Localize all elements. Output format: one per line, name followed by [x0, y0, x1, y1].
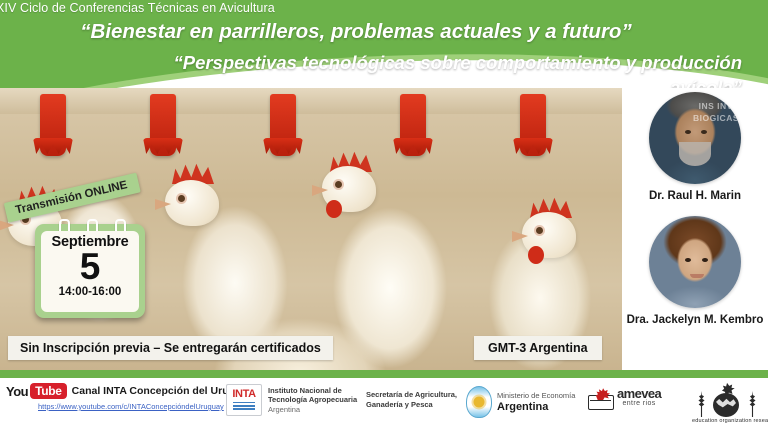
avatar-eye [685, 130, 691, 134]
ministerio-text: Ministerio de Economía Argentina [497, 391, 575, 414]
inta-line-3: Argentina [268, 405, 357, 415]
footer-logos: You Tube Canal INTA Concepción del Urugu… [0, 378, 768, 432]
inta-logo-text: Instituto Nacional de Tecnología Agropec… [268, 386, 357, 415]
feeder-icon [270, 94, 296, 156]
chicken-wattle [326, 200, 342, 218]
conference-series-label: XIV Ciclo de Conferencias Técnicas en Av… [0, 1, 456, 15]
registration-note: Sin Inscripción previa – Se entregarán c… [8, 336, 333, 360]
chicken-head [322, 166, 376, 212]
chicken-head [165, 180, 219, 226]
chicken-eye [178, 195, 185, 202]
speaker-card: INS INVE BIOGICAS Dr. Raul H. Marin [622, 92, 768, 203]
amevea-logo-block: amevea entre rios [588, 388, 661, 410]
speaker-avatar [649, 216, 741, 308]
youtube-channel-link[interactable]: https://www.youtube.com/c/INTAConcepción… [38, 402, 224, 411]
calendar-face: Septiembre 5 14:00-16:00 [41, 231, 139, 312]
inta-wordmark: INTA [232, 389, 255, 400]
photo-watermark: INS INVE BIOGICAS [679, 100, 739, 124]
youtube-tube-text: Tube [30, 383, 67, 399]
feeder-icon [400, 94, 426, 156]
secretaria-line-1: Secretaría de Agricultura, [366, 390, 457, 400]
amevea-subtitle: entre rios [617, 399, 661, 409]
ministerio-line-1: Ministerio de Economía [497, 391, 575, 401]
speaker-name: Dr. Raul H. Marin [622, 189, 768, 203]
feeder-icon [150, 94, 176, 156]
inta-logo-icon: INTA [226, 384, 262, 416]
inta-line-2: Tecnología Agropecuaria [268, 395, 357, 405]
event-date-calendar: Septiembre 5 14:00-16:00 [35, 224, 145, 318]
wpsa-caption: education organization research [692, 418, 762, 424]
calendar-time: 14:00-16:00 [59, 286, 122, 298]
secretaria-line-2: Ganadería y Pesca [366, 400, 457, 410]
amevea-wordmark: amevea entre rios [617, 389, 661, 409]
wheat-icon [698, 391, 705, 417]
timezone-badge: GMT-3 Argentina [474, 336, 602, 360]
speakers-panel: INS INVE BIOGICAS Dr. Raul H. Marin Dra.… [622, 88, 768, 370]
globe-icon [713, 393, 739, 417]
feeder-icon [520, 94, 546, 156]
amevea-name: amevea [617, 389, 661, 399]
youtube-logo: You Tube [6, 383, 67, 399]
feeder-icon [40, 94, 66, 156]
chicken-eye [335, 181, 342, 188]
chicken-head [522, 212, 576, 258]
avatar-eye [702, 258, 708, 262]
page-title: “Bienestar en parrilleros, problemas act… [0, 19, 712, 45]
avatar-beard [679, 142, 711, 166]
speaker-card: Dra. Jackelyn M. Kembro [622, 216, 768, 327]
conference-poster: XIV Ciclo de Conferencias Técnicas en Av… [0, 0, 768, 432]
wpsa-logo-block: education organization research [692, 383, 762, 424]
secretaria-text: Secretaría de Agricultura, Ganadería y P… [366, 390, 457, 409]
argentina-emblem-icon [466, 386, 492, 418]
amevea-rooster-icon [588, 388, 614, 410]
ministerio-block: Ministerio de Economía Argentina [466, 386, 575, 418]
inta-stripes [233, 402, 255, 412]
speaker-name: Dra. Jackelyn M. Kembro [622, 313, 768, 327]
secretaria-block: Secretaría de Agricultura, Ganadería y P… [366, 390, 457, 409]
chicken-wattle [528, 246, 544, 264]
wheat-icon [749, 391, 756, 417]
youtube-channel-block[interactable]: You Tube Canal INTA Concepción del Urugu… [6, 383, 253, 399]
avatar-eye [701, 130, 707, 134]
footer-divider [0, 370, 768, 378]
youtube-you-text: You [6, 384, 28, 399]
speaker-avatar: INS INVE BIOGICAS [649, 92, 741, 184]
avatar-mouth [690, 274, 704, 278]
ministerio-line-2: Argentina [497, 401, 575, 414]
inta-line-1: Instituto Nacional de [268, 386, 357, 396]
sun-of-may-icon [474, 397, 485, 408]
calendar-day: 5 [80, 248, 101, 285]
chicken-eye [536, 227, 543, 234]
wpsa-emblem-icon [696, 383, 758, 417]
inta-logo-block: INTA Instituto Nacional de Tecnología Ag… [226, 384, 357, 416]
avatar-eye [685, 258, 691, 262]
